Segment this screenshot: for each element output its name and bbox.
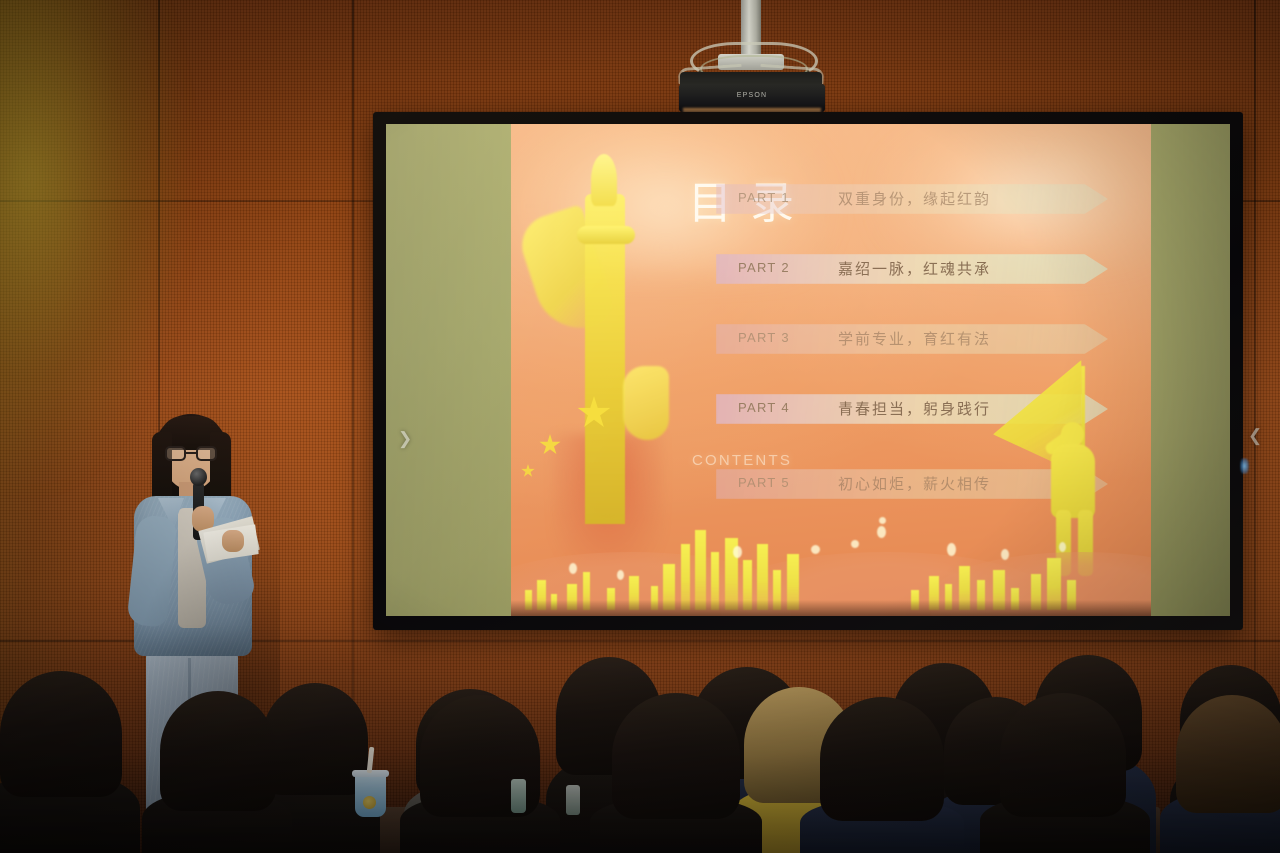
screenshot-root: EPSON bbox=[0, 0, 1280, 853]
image-vignette bbox=[0, 0, 1280, 853]
